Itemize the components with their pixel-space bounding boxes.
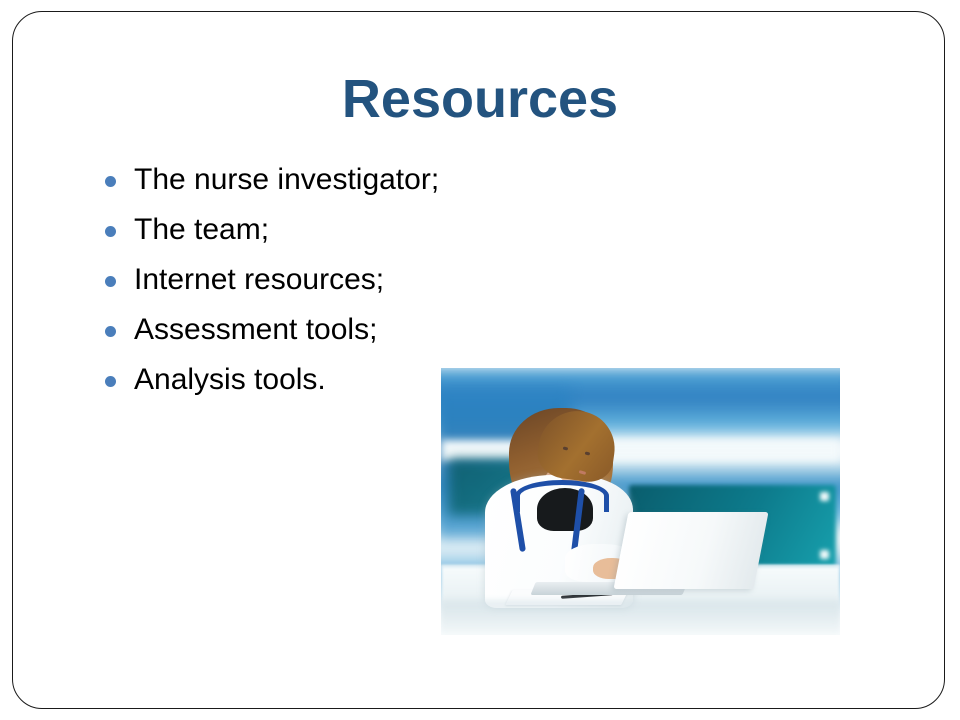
presentation-slide: Resources The nurse investigator; The te… xyxy=(0,0,960,720)
list-item: Internet resources; xyxy=(96,255,516,305)
bullet-dot-icon xyxy=(105,376,116,387)
bullet-dot-icon xyxy=(105,226,116,237)
list-item-label: The nurse investigator; xyxy=(134,155,439,205)
list-item-label: Internet resources; xyxy=(134,255,384,305)
list-item-label: Assessment tools; xyxy=(134,305,377,355)
stethoscope-icon xyxy=(515,480,609,512)
nurse-with-laptop-photo xyxy=(441,368,840,635)
list-item-label: The team; xyxy=(134,205,269,255)
photo-laptop-screen xyxy=(613,512,768,589)
list-item: The team; xyxy=(96,205,516,255)
list-item-label: Analysis tools. xyxy=(134,355,326,405)
page-title: Resources xyxy=(0,69,960,129)
list-item: The nurse investigator; xyxy=(96,155,516,205)
bullet-dot-icon xyxy=(105,176,116,187)
list-item: Assessment tools; xyxy=(96,305,516,355)
bullet-dot-icon xyxy=(105,276,116,287)
bullet-dot-icon xyxy=(105,326,116,337)
photo-desk-reflection xyxy=(441,600,840,635)
